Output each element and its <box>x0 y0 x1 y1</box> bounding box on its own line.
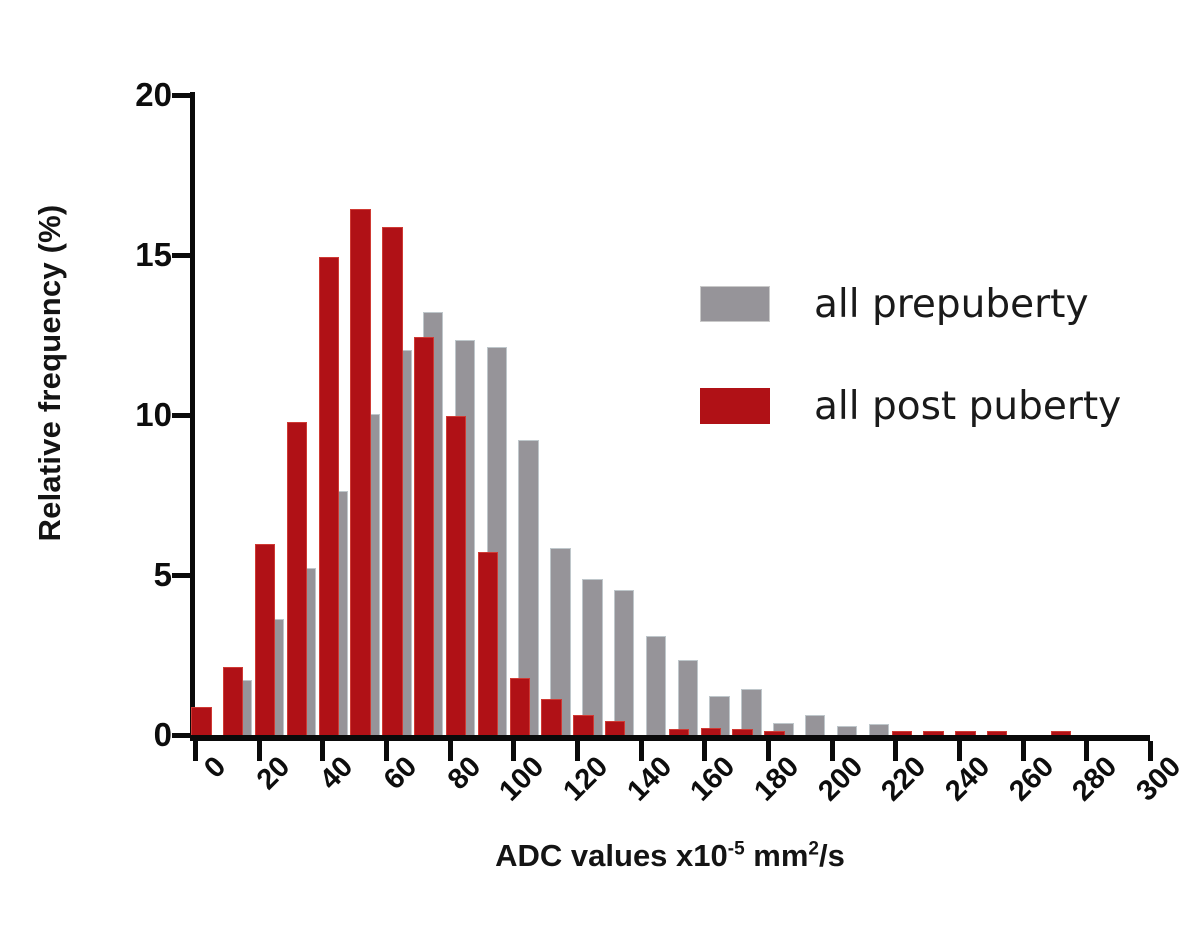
y-axis-title: Relative frequency (%) <box>32 143 68 603</box>
y-tick-20 <box>172 93 191 98</box>
bar-postpuberty-170 <box>732 729 752 735</box>
x-axis-title-exponent2: 2 <box>808 839 819 860</box>
bar-postpuberty-70 <box>414 337 434 735</box>
bar-prepuberty-130 <box>614 590 634 735</box>
legend-label-postpuberty: all post puberty <box>814 384 1121 429</box>
x-tick-280 <box>1084 741 1089 761</box>
legend-swatch-postpuberty <box>700 388 770 424</box>
bar-postpuberty-220 <box>892 731 912 735</box>
y-tick-label-0: 0 <box>110 718 172 751</box>
bar-postpuberty-90 <box>478 552 498 735</box>
x-tick-300 <box>1148 741 1153 761</box>
bar-postpuberty-270 <box>1051 731 1071 735</box>
x-tick-100 <box>511 741 516 761</box>
bar-prepuberty-210 <box>869 724 889 735</box>
x-tick-240 <box>957 741 962 761</box>
x-tick-40 <box>320 741 325 761</box>
legend-item-postpuberty[interactable]: all post puberty <box>700 380 1121 432</box>
bar-postpuberty-10 <box>223 667 243 735</box>
legend: all prepubertyall post puberty <box>700 278 1121 482</box>
x-tick-80 <box>448 741 453 761</box>
bar-postpuberty-180 <box>764 731 784 735</box>
bar-postpuberty-120 <box>573 715 593 735</box>
x-axis-title: ADC values x10-5 mm2/s <box>190 838 1150 874</box>
x-tick-260 <box>1021 741 1026 761</box>
bar-postpuberty-60 <box>382 227 402 735</box>
y-tick-5 <box>172 573 191 578</box>
x-tick-140 <box>639 741 644 761</box>
legend-swatch-prepuberty <box>700 286 770 322</box>
x-tick-200 <box>830 741 835 761</box>
bar-postpuberty-150 <box>669 729 689 735</box>
x-tick-160 <box>702 741 707 761</box>
y-tick-label-10: 10 <box>110 398 172 431</box>
bar-postpuberty-130 <box>605 721 625 735</box>
x-axis-title-mid: mm <box>745 838 809 873</box>
x-axis-title-exponent: -5 <box>728 839 745 860</box>
legend-label-prepuberty: all prepuberty <box>814 282 1089 327</box>
y-tick-0 <box>172 733 191 738</box>
x-axis-title-end: /s <box>819 838 845 873</box>
bar-prepuberty-170 <box>741 689 761 735</box>
bar-postpuberty-240 <box>955 731 975 735</box>
x-tick-120 <box>575 741 580 761</box>
y-tick-label-15: 15 <box>110 238 172 271</box>
bar-postpuberty-50 <box>350 209 370 735</box>
x-tick-0 <box>193 741 198 761</box>
bar-postpuberty-250 <box>987 731 1007 735</box>
bar-postpuberty-230 <box>923 731 943 735</box>
bar-prepuberty-200 <box>837 726 857 735</box>
histogram-figure: Relative frequency (%) 05101520 02040608… <box>0 0 1181 932</box>
bar-postpuberty-0 <box>191 707 211 735</box>
y-tick-label-20: 20 <box>110 78 172 111</box>
bar-prepuberty-150 <box>678 660 698 735</box>
y-tick-10 <box>172 413 191 418</box>
y-tick-15 <box>172 253 191 258</box>
bar-postpuberty-160 <box>701 728 721 735</box>
x-axis-line <box>190 735 1150 741</box>
bar-prepuberty-120 <box>582 579 602 735</box>
bar-postpuberty-110 <box>541 699 561 735</box>
x-tick-60 <box>384 741 389 761</box>
bar-prepuberty-140 <box>646 636 666 735</box>
x-tick-220 <box>893 741 898 761</box>
bar-postpuberty-80 <box>446 416 466 735</box>
y-tick-label-5: 5 <box>110 558 172 591</box>
bar-prepuberty-190 <box>805 715 825 735</box>
bar-postpuberty-40 <box>319 257 339 735</box>
x-tick-20 <box>257 741 262 761</box>
bar-postpuberty-100 <box>510 678 530 735</box>
bar-postpuberty-20 <box>255 544 275 735</box>
bar-postpuberty-30 <box>287 422 307 735</box>
x-axis-title-pre: ADC values x10 <box>495 838 728 873</box>
legend-item-prepuberty[interactable]: all prepuberty <box>700 278 1121 330</box>
x-tick-180 <box>766 741 771 761</box>
